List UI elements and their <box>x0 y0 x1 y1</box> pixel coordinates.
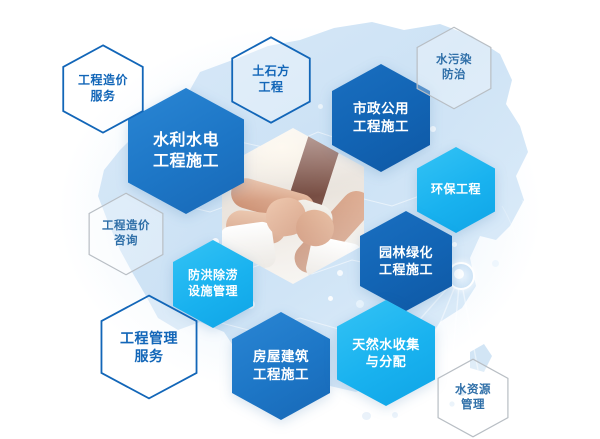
hexagon-label: 房屋建筑 工程施工 <box>253 348 309 384</box>
hexagon-gongcheng-zaojia-zixun[interactable]: 工程造价 咨询 <box>88 192 164 276</box>
infographic-canvas: 工程造价 服务土石方 工程水污染 防治水利水电 工程施工市政公用 工程施工环保工… <box>0 0 600 439</box>
hexagon-shuiziyuan-guanli[interactable]: 水资源 管理 <box>437 358 509 438</box>
hexagon-tianranshui-shouji[interactable]: 天然水收集 与分配 <box>337 300 435 406</box>
hexagon-label: 工程管理 服务 <box>120 329 178 366</box>
hexagon-label: 水资源 管理 <box>455 383 491 413</box>
hexagon-label: 市政公用 工程施工 <box>353 100 409 136</box>
hexagon-tushifang-gongcheng[interactable]: 土石方 工程 <box>231 36 311 124</box>
hexagon-fangwu-jianzhu-shigong[interactable]: 房屋建筑 工程施工 <box>232 312 330 420</box>
hexagon-gongcheng-zaojia-fuwu[interactable]: 工程造价 服务 <box>62 44 144 134</box>
hexagon-gongcheng-guanli-fuwu[interactable]: 工程管理 服务 <box>100 294 198 400</box>
hexagon-label: 水污染 防治 <box>436 53 472 83</box>
hexagon-label: 土石方 工程 <box>252 64 290 96</box>
hexagon-label: 工程造价 服务 <box>78 73 128 105</box>
hexagon-label: 园林绿化 工程施工 <box>379 244 433 278</box>
hexagon-label: 环保工程 <box>431 182 481 198</box>
hexagon-label: 天然水收集 与分配 <box>352 336 420 370</box>
hexagon-label: 水利水电 工程施工 <box>153 130 219 172</box>
hexagon-yuanlin-lvhua-shigong[interactable]: 园林绿化 工程施工 <box>360 211 452 311</box>
hexagon-label: 工程造价 咨询 <box>102 219 150 249</box>
hexagon-shuiwuran-fangzhi[interactable]: 水污染 防治 <box>416 26 492 110</box>
